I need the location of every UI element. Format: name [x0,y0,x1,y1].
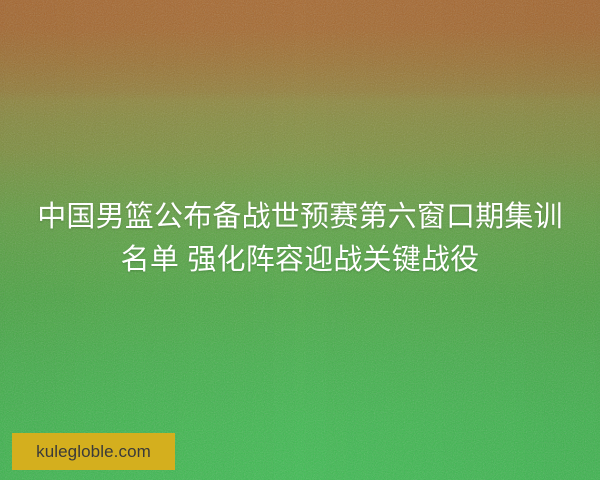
watermark-badge[interactable]: kulegloble.com [12,433,175,470]
headline-line-1: 中国男篮公布备战世预赛第六窗口期集训 [14,196,586,239]
headline-line-2: 名单 强化阵容迎战关键战役 [14,239,586,282]
headline: 中国男篮公布备战世预赛第六窗口期集训 名单 强化阵容迎战关键战役 [0,196,600,282]
watermark-label: kulegloble.com [36,443,151,460]
thumbnail-canvas: 中国男篮公布备战世预赛第六窗口期集训 名单 强化阵容迎战关键战役 kuleglo… [0,0,600,480]
